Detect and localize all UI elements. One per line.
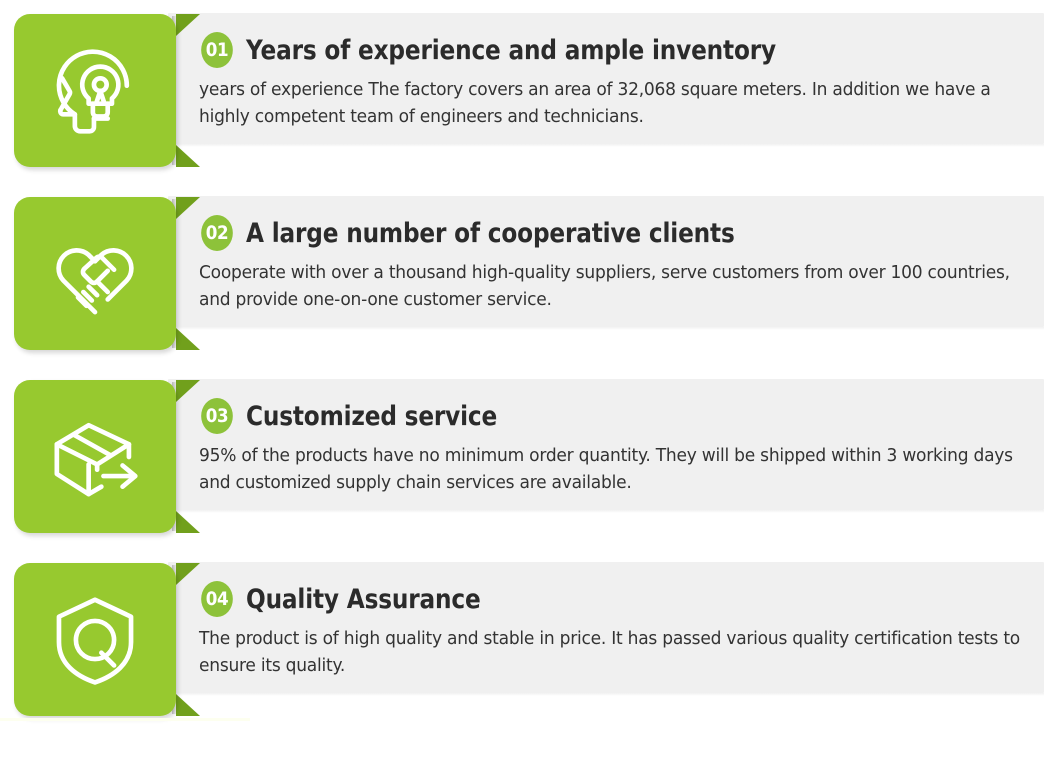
shield-quality-icon: [42, 587, 148, 693]
icon-tile-03: [14, 380, 176, 533]
feature-number-badge-02: 02: [201, 215, 233, 251]
ribbon-fold-top-03: [176, 380, 200, 402]
feature-title-line-01: 01 Years of experience and ample invento…: [199, 32, 1045, 68]
ribbon-fold-bottom-03: [176, 511, 200, 533]
feature-text-02: 02 A large number of cooperative clients…: [199, 215, 1045, 313]
feature-text-04: 04 Quality Assurance The product is of h…: [199, 581, 1045, 679]
feature-body-03: 95% of the products have no minimum orde…: [199, 443, 1024, 496]
icon-tile-04: [14, 563, 176, 716]
feature-row-01: 01 Years of experience and ample invento…: [0, 0, 1060, 170]
feature-text-03: 03 Customized service 95% of the product…: [199, 398, 1045, 496]
feature-title-line-04: 04 Quality Assurance: [199, 581, 1045, 617]
ribbon-fold-top-01: [176, 14, 200, 36]
feature-title-02: A large number of cooperative clients: [246, 220, 735, 247]
head-lightbulb-icon: [42, 38, 148, 144]
bottom-edge-artifact: [0, 718, 250, 721]
feature-title-03: Customized service: [246, 403, 497, 430]
box-shipping-arrow-icon: [42, 404, 148, 510]
feature-number-badge-03: 03: [201, 398, 233, 434]
icon-tile-01: [14, 14, 176, 167]
feature-row-03: 03 Customized service 95% of the product…: [0, 366, 1060, 536]
feature-title-line-03: 03 Customized service: [199, 398, 1045, 434]
icon-tile-02: [14, 197, 176, 350]
handshake-heart-icon: [42, 221, 148, 327]
ribbon-fold-top-04: [176, 563, 200, 585]
feature-body-04: The product is of high quality and stabl…: [199, 626, 1024, 679]
feature-number-badge-04: 04: [201, 581, 233, 617]
features-board: 01 Years of experience and ample invento…: [0, 0, 1060, 781]
feature-number-badge-01: 01: [201, 32, 233, 68]
ribbon-fold-bottom-01: [176, 145, 200, 167]
feature-title-01: Years of experience and ample inventory: [246, 37, 776, 64]
ribbon-fold-bottom-02: [176, 328, 200, 350]
feature-body-01: years of experience The factory covers a…: [199, 77, 1024, 130]
ribbon-fold-bottom-04: [176, 694, 200, 716]
feature-row-04: 04 Quality Assurance The product is of h…: [0, 549, 1060, 719]
feature-title-line-02: 02 A large number of cooperative clients: [199, 215, 1045, 251]
feature-title-04: Quality Assurance: [246, 586, 481, 613]
feature-row-02: 02 A large number of cooperative clients…: [0, 183, 1060, 353]
feature-body-02: Cooperate with over a thousand high-qual…: [199, 260, 1024, 313]
ribbon-fold-top-02: [176, 197, 200, 219]
feature-text-01: 01 Years of experience and ample invento…: [199, 32, 1045, 130]
